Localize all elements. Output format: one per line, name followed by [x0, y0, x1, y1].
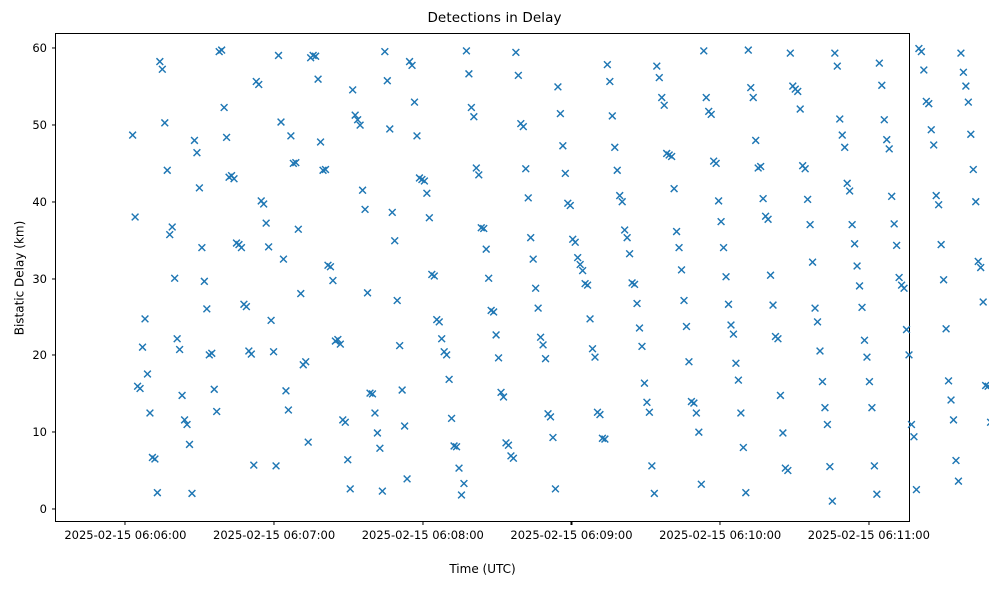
scatter-point [203, 306, 210, 313]
scatter-point [201, 278, 208, 285]
scatter-point [448, 415, 455, 422]
x-tick-label: 2025-02-15 06:07:00 [213, 528, 335, 542]
scatter-point [616, 192, 623, 199]
scatter-point [577, 261, 584, 268]
scatter-point [431, 273, 438, 280]
scatter-point [609, 113, 616, 120]
scatter-point [911, 433, 918, 440]
y-tick-label: 60 [32, 41, 47, 55]
scatter-point [918, 48, 925, 55]
scatter-point [532, 285, 539, 292]
scatter-point [822, 404, 829, 411]
scatter-point [698, 481, 705, 488]
scatter-point [737, 410, 744, 417]
scatter-point [661, 102, 668, 109]
scatter-point [456, 465, 463, 472]
scatter-point [164, 167, 171, 174]
scatter-point [972, 198, 979, 205]
scatter-point [275, 52, 282, 59]
scatter-point [861, 337, 868, 344]
scatter-point [826, 463, 833, 470]
scatter-point [414, 132, 421, 139]
scatter-point [458, 492, 465, 499]
scatter-point [270, 348, 277, 355]
scatter-point [859, 304, 866, 311]
scatter-point [268, 317, 275, 324]
scatter-point [198, 244, 205, 251]
x-tick-mark [125, 521, 126, 525]
scatter-point [646, 409, 653, 416]
y-tick-label: 0 [40, 502, 47, 516]
scatter-point [347, 485, 354, 492]
scatter-point [342, 419, 349, 426]
scatter-point [280, 256, 287, 263]
y-axis-label-text: Bistatic Delay (km) [12, 220, 26, 335]
scatter-point [374, 430, 381, 437]
scatter-point [819, 378, 826, 385]
scatter-point [438, 335, 445, 342]
scatter-point [584, 282, 591, 289]
scatter-point [159, 66, 166, 73]
scatter-point [950, 417, 957, 424]
scatter-point [938, 241, 945, 248]
scatter-point [903, 326, 910, 333]
scatter-point [651, 490, 658, 497]
plot-area: 01020304050602025-02-15 06:06:002025-02-… [55, 33, 910, 522]
scatter-point [765, 216, 772, 223]
scatter-point [876, 60, 883, 67]
scatter-point [132, 214, 139, 221]
y-tick-label: 30 [32, 272, 47, 286]
scatter-point [285, 407, 292, 414]
scatter-point [958, 50, 965, 57]
x-tick-label: 2025-02-15 06:10:00 [659, 528, 781, 542]
scatter-point [349, 87, 356, 94]
scatter-point [747, 84, 754, 91]
scatter-point [327, 263, 334, 270]
scatter-point [967, 131, 974, 138]
scatter-point [975, 258, 982, 265]
scatter-point [715, 198, 722, 205]
scatter-point [888, 193, 895, 200]
scatter-point [636, 325, 643, 332]
scatter-point [871, 462, 878, 469]
x-tick-label: 2025-02-15 06:06:00 [64, 528, 186, 542]
scatter-point [161, 119, 168, 126]
scatter-point [809, 259, 816, 266]
y-tick-mark [52, 432, 56, 433]
scatter-point [305, 439, 312, 446]
scatter-point [510, 455, 517, 462]
scatter-point [589, 345, 596, 352]
scatter-point [142, 315, 149, 322]
scatter-point [386, 126, 393, 133]
scatter-point [614, 167, 621, 174]
scatter-points [129, 45, 989, 504]
scatter-point [824, 421, 831, 428]
scatter-point [493, 332, 500, 339]
scatter-point [557, 110, 564, 117]
scatter-point [191, 137, 198, 144]
scatter-point [572, 239, 579, 246]
scatter-point [713, 160, 720, 167]
scatter-point [194, 149, 201, 156]
scatter-point [834, 63, 841, 70]
scatter-point [812, 305, 819, 312]
y-tick-mark [52, 509, 56, 510]
scatter-point [864, 354, 871, 361]
scatter-layer [56, 34, 909, 521]
scatter-point [728, 322, 735, 329]
scatter-point [485, 275, 492, 282]
scatter-point [604, 61, 611, 68]
scatter-point [673, 228, 680, 235]
scatter-point [960, 69, 967, 76]
scatter-point [505, 442, 512, 449]
scatter-point [186, 441, 193, 448]
x-axis-label: Time (UTC) [55, 562, 910, 576]
scatter-point [933, 192, 940, 199]
scatter-point [483, 246, 490, 253]
scatter-point [391, 237, 398, 244]
scatter-point [364, 289, 371, 296]
scatter-point [147, 410, 154, 417]
scatter-point [597, 411, 604, 418]
scatter-point [641, 380, 648, 387]
scatter-point [171, 275, 178, 282]
scatter-point [530, 256, 537, 263]
scatter-point [683, 323, 690, 330]
scatter-point [906, 351, 913, 358]
scatter-point [883, 136, 890, 143]
scatter-point [624, 234, 631, 241]
scatter-point [223, 134, 230, 141]
scatter-point [152, 456, 159, 463]
scatter-point [653, 63, 660, 70]
scatter-point [671, 185, 678, 192]
y-tick-label: 40 [32, 195, 47, 209]
scatter-point [970, 166, 977, 173]
scatter-point [154, 489, 161, 496]
scatter-point [263, 220, 270, 227]
scatter-point [248, 351, 255, 358]
scatter-point [550, 434, 557, 441]
scatter-point [851, 240, 858, 247]
scatter-point [802, 165, 809, 172]
scatter-point [359, 187, 366, 194]
scatter-point [522, 165, 529, 172]
scatter-point [218, 47, 225, 54]
scatter-point [844, 180, 851, 187]
scatter-point [463, 47, 470, 54]
scatter-point [955, 478, 962, 485]
scatter-point [757, 163, 764, 170]
scatter-point [174, 335, 181, 342]
scatter-point [869, 404, 876, 411]
x-tick-mark [274, 521, 275, 525]
scatter-point [547, 413, 554, 420]
scatter-point [945, 377, 952, 384]
scatter-point [775, 335, 782, 342]
scatter-point [443, 351, 450, 358]
scatter-point [129, 132, 136, 139]
scatter-point [592, 354, 599, 361]
scatter-point [399, 387, 406, 394]
y-tick-label: 50 [32, 118, 47, 132]
scatter-point [935, 201, 942, 208]
scatter-point [189, 490, 196, 497]
chart-title: Detections in Delay [0, 10, 989, 26]
scatter-point [273, 462, 280, 469]
scatter-point [283, 387, 290, 394]
scatter-point [377, 445, 384, 452]
x-tick-mark [720, 521, 721, 525]
scatter-point [466, 70, 473, 77]
scatter-point [965, 99, 972, 106]
scatter-point [574, 254, 581, 261]
scatter-point [686, 358, 693, 365]
scatter-point [317, 139, 324, 146]
scatter-point [137, 385, 144, 392]
scatter-point [542, 355, 549, 362]
scatter-point [676, 244, 683, 251]
scatter-point [740, 444, 747, 451]
scatter-point [836, 116, 843, 123]
scatter-point [901, 285, 908, 292]
scatter-point [720, 244, 727, 251]
scatter-point [512, 49, 519, 56]
scatter-point [287, 132, 294, 139]
scatter-point [426, 214, 433, 221]
y-tick-mark [52, 201, 56, 202]
scatter-point [854, 263, 861, 270]
scatter-point [587, 315, 594, 322]
scatter-point [794, 88, 801, 95]
scatter-point [626, 250, 633, 257]
scatter-point [495, 355, 502, 362]
scatter-point [807, 221, 814, 228]
scatter-point [658, 94, 665, 101]
scatter-point [297, 290, 304, 297]
scatter-point [940, 276, 947, 283]
scatter-point [841, 144, 848, 151]
scatter-point [767, 272, 774, 279]
scatter-point [169, 224, 176, 231]
scatter-point [718, 218, 725, 225]
scatter-point [733, 360, 740, 367]
scatter-point [579, 267, 586, 274]
scatter-point [708, 111, 715, 118]
scatter-point [634, 300, 641, 307]
scatter-point [866, 378, 873, 385]
scatter-point [411, 99, 418, 106]
scatter-point [730, 331, 737, 338]
scatter-point [394, 297, 401, 304]
scatter-point [908, 421, 915, 428]
scatter-point [784, 467, 791, 474]
scatter-point [606, 78, 613, 85]
x-tick-mark [571, 521, 572, 525]
scatter-point [475, 172, 482, 179]
scatter-point [777, 392, 784, 399]
y-tick-mark [52, 47, 56, 48]
scatter-point [278, 119, 285, 126]
scatter-point [255, 81, 262, 88]
scatter-point [678, 266, 685, 273]
scatter-point [379, 488, 386, 495]
scatter-point [535, 305, 542, 312]
scatter-point [166, 231, 173, 238]
scatter-point [700, 47, 707, 54]
scatter-point [621, 227, 628, 234]
figure-canvas: Detections in Delay Bistatic Delay (km) … [0, 0, 989, 590]
scatter-point [389, 209, 396, 216]
y-axis-label: Bistatic Delay (km) [11, 33, 27, 522]
scatter-point [208, 350, 215, 357]
scatter-point [797, 106, 804, 113]
scatter-point [878, 82, 885, 89]
scatter-point [644, 399, 651, 406]
scatter-point [265, 243, 272, 250]
scatter-point [849, 221, 856, 228]
scatter-point [752, 137, 759, 144]
scatter-point [344, 456, 351, 463]
scatter-point [520, 123, 527, 130]
scatter-point [703, 94, 710, 101]
scatter-point [156, 58, 163, 65]
scatter-point [537, 334, 544, 341]
scatter-point [881, 116, 888, 123]
scatter-point [735, 377, 742, 384]
scatter-point [423, 190, 430, 197]
scatter-point [381, 48, 388, 55]
scatter-point [723, 273, 730, 280]
scatter-point [468, 104, 475, 111]
scatter-point [831, 50, 838, 57]
x-tick-mark [868, 521, 869, 525]
x-tick-label: 2025-02-15 06:11:00 [808, 528, 930, 542]
scatter-point [238, 244, 245, 251]
scatter-point [920, 67, 927, 74]
scatter-point [839, 132, 846, 139]
scatter-point [555, 83, 562, 90]
scatter-point [928, 126, 935, 133]
scatter-point [473, 165, 480, 172]
scatter-point [562, 170, 569, 177]
scatter-point [179, 392, 186, 399]
scatter-point [846, 188, 853, 195]
scatter-point [515, 72, 522, 79]
scatter-point [552, 485, 559, 492]
scatter-point [384, 77, 391, 84]
scatter-point [693, 410, 700, 417]
scatter-point [540, 341, 547, 348]
x-tick-label: 2025-02-15 06:08:00 [362, 528, 484, 542]
scatter-point [804, 196, 811, 203]
scatter-point [490, 309, 497, 316]
scatter-point [295, 226, 302, 233]
scatter-point [925, 100, 932, 107]
scatter-point [695, 429, 702, 436]
scatter-point [770, 302, 777, 309]
scatter-point [315, 76, 322, 83]
scatter-point [943, 325, 950, 332]
scatter-point [461, 480, 468, 487]
scatter-point [656, 74, 663, 81]
scatter-point [886, 145, 893, 152]
scatter-point [243, 303, 250, 310]
scatter-point [619, 198, 626, 205]
scatter-point [527, 234, 534, 241]
scatter-point [913, 486, 920, 493]
scatter-point [977, 264, 984, 271]
scatter-point [814, 319, 821, 326]
scatter-point [196, 185, 203, 192]
scatter-point [611, 144, 618, 151]
scatter-point [631, 281, 638, 288]
scatter-point [396, 342, 403, 349]
scatter-point [330, 277, 337, 284]
scatter-point [760, 195, 767, 202]
scatter-point [144, 371, 151, 378]
scatter-point [962, 83, 969, 90]
scatter-point [742, 489, 749, 496]
scatter-point [260, 201, 267, 208]
scatter-point [745, 47, 752, 54]
scatter-point [648, 462, 655, 469]
scatter-point [446, 376, 453, 383]
scatter-point [681, 297, 688, 304]
scatter-point [362, 206, 369, 213]
scatter-point [896, 274, 903, 281]
scatter-point [231, 175, 238, 182]
scatter-point [930, 142, 937, 149]
scatter-point [980, 299, 987, 306]
y-tick-mark [52, 278, 56, 279]
scatter-point [436, 319, 443, 326]
scatter-point [639, 343, 646, 350]
scatter-point [525, 194, 532, 201]
scatter-point [817, 348, 824, 355]
y-tick-label: 20 [32, 348, 47, 362]
scatter-point [891, 221, 898, 228]
scatter-point [559, 142, 566, 149]
scatter-point [893, 242, 900, 249]
scatter-point [401, 423, 408, 430]
x-tick-mark [422, 521, 423, 525]
y-tick-label: 10 [32, 425, 47, 439]
y-tick-mark [52, 124, 56, 125]
scatter-point [780, 430, 787, 437]
scatter-point [470, 113, 477, 120]
scatter-point [948, 397, 955, 404]
scatter-point [725, 301, 732, 308]
scatter-point [302, 358, 309, 365]
scatter-point [691, 400, 698, 407]
scatter-point [953, 457, 960, 464]
scatter-point [372, 410, 379, 417]
scatter-point [829, 498, 836, 505]
scatter-point [176, 346, 183, 353]
scatter-point [139, 344, 146, 351]
scatter-point [211, 386, 218, 393]
scatter-point [404, 475, 411, 482]
scatter-point [750, 94, 757, 101]
scatter-point [567, 202, 574, 209]
scatter-point [213, 408, 220, 415]
scatter-point [221, 104, 228, 111]
scatter-point [787, 50, 794, 57]
